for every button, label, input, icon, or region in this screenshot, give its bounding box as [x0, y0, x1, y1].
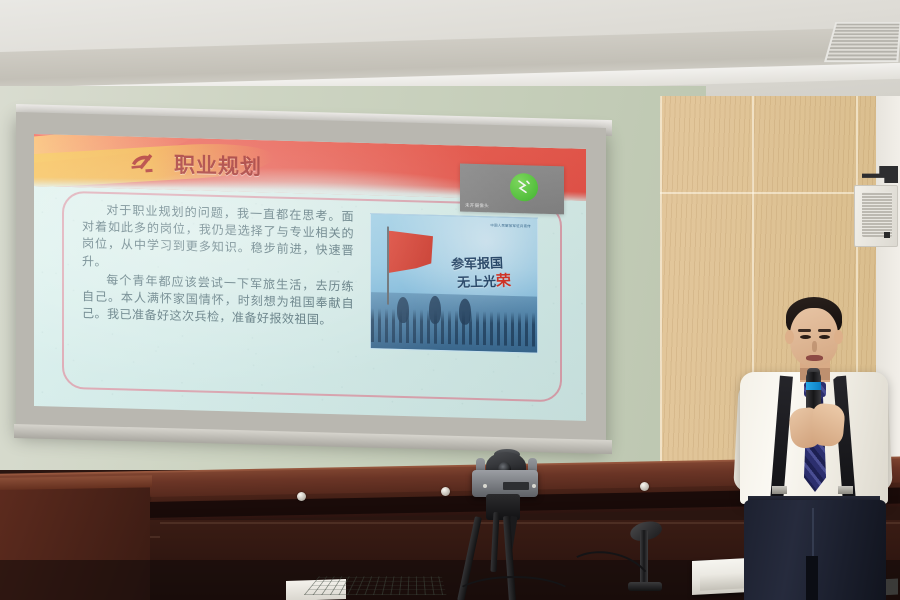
presenter-nose [812, 341, 817, 352]
presentation-room-photo: 职业规划 对于职业规划的问题，我一直都在思考。面对着如此多的岗位，我仍是选择了与… [0, 0, 900, 600]
camera-label [503, 482, 529, 490]
microphone-blue-band [806, 382, 821, 390]
desk-fastener [297, 492, 306, 501]
presenter-eye-right [819, 335, 830, 339]
presenter-eyebrow-right [818, 329, 831, 332]
suspender-clip-left [772, 486, 787, 494]
slide-title: 职业规划 [174, 149, 262, 181]
slide-paragraph-1: 对于职业规划的问题，我一直都在思考。面对着如此多的岗位，我仍是选择了与专业相关的… [82, 201, 354, 277]
wood-seam [660, 192, 885, 194]
trouser-leg-gap [806, 556, 818, 600]
desk-fastener [640, 482, 649, 491]
suspender-clip-right [838, 486, 853, 494]
presenter-hand-right [810, 403, 846, 448]
projected-slide: 职业规划 对于职业规划的问题，我一直都在思考。面对着如此多的岗位，我仍是选择了与… [34, 134, 586, 421]
air-vent-icon [824, 22, 900, 62]
camera-led-icon [532, 484, 536, 488]
poster-line-2-prefix: 无上光 [457, 275, 497, 291]
presenter-ear-left [785, 330, 794, 344]
speaker-led-icon [884, 232, 890, 238]
presenter-mouth [806, 355, 823, 361]
video-call-tile[interactable]: 未开摄像头 [460, 164, 564, 215]
marching-crowd [371, 308, 537, 346]
recruitment-poster-image: 参军报国 无上光荣 中国人民解放军征兵宣传 [370, 213, 538, 354]
slide-paragraph-2: 每个青年都应该尝试一下军旅生活，去历练自己。本人满怀家国情怀，时刻想为祖国奉献自… [82, 271, 354, 330]
poster-caption: 中国人民解放军征兵宣传 [490, 222, 531, 228]
presenter-eye-left [800, 335, 811, 339]
party-emblem-icon [129, 149, 161, 178]
desk-fastener [441, 487, 450, 496]
speaker-grille-icon [862, 192, 892, 237]
camera-led-icon [483, 484, 487, 488]
participant-name-label: 未开摄像头 [465, 203, 489, 210]
presenter-eyebrow-left [798, 329, 811, 332]
presenter-ear-right [834, 330, 843, 344]
slide-body-text: 对于职业规划的问题，我一直都在思考。面对着如此多的岗位，我仍是选择了与专业相关的… [82, 201, 354, 331]
computer-keyboard[interactable] [304, 576, 447, 595]
poster-line-2: 无上光荣 [456, 269, 511, 291]
poster-line-2-highlight: 荣 [496, 271, 512, 289]
flag-pole-icon [387, 227, 389, 305]
person-avatar-icon [510, 173, 538, 202]
